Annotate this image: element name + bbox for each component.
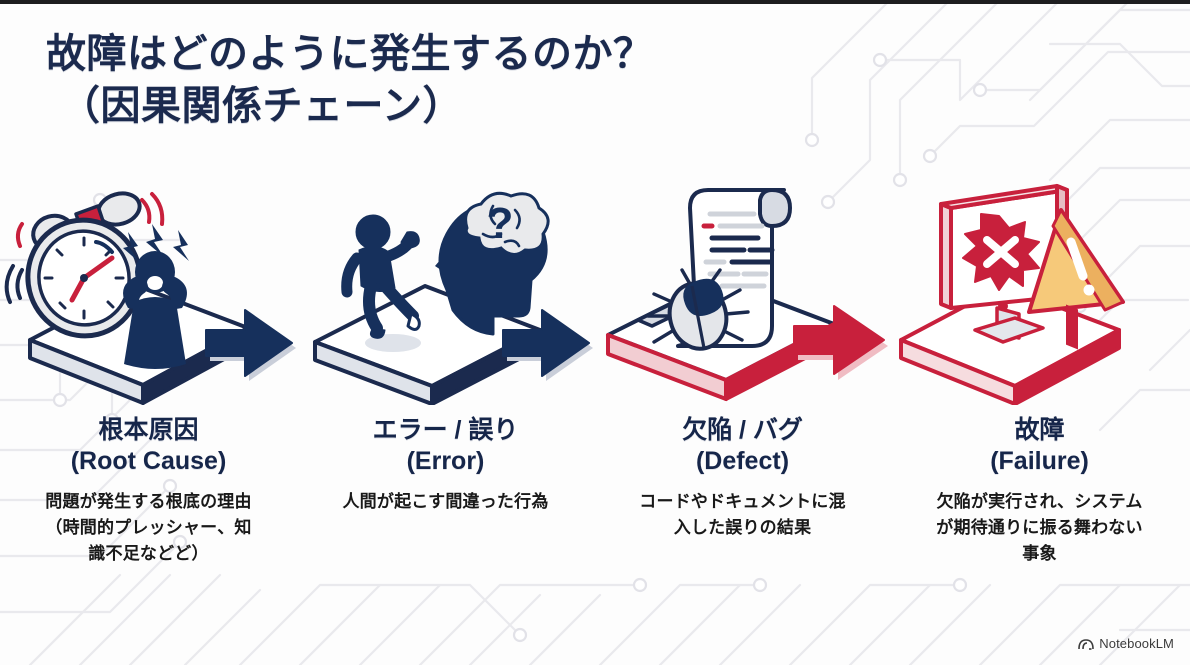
step-description: 欠陥が実行され、システムが期待通りに振る舞わない事象: [931, 489, 1149, 567]
chain-step-defect[interactable]: 欠陥 / バグ (Defect) コードやドキュメントに混入した誤りの結果: [594, 180, 891, 541]
document-scroll-bug-icon: [594, 180, 891, 405]
slide-canvas: 故障はどのように発生するのか？ （因果関係チェーン）: [0, 0, 1190, 665]
title-line-2: （因果関係チェーン）: [46, 80, 654, 132]
chain-step-error[interactable]: ? エラー / 誤り (Error) 人間が起こす間違った行為: [297, 180, 594, 515]
chain-step-failure[interactable]: 故障 (Failure) 欠陥が実行され、システムが期待通りに振る舞わない事象: [891, 180, 1188, 567]
step-labels: 欠陥 / バグ (Defect) コードやドキュメントに混入した誤りの結果: [609, 415, 877, 541]
step-labels: 故障 (Failure) 欠陥が実行され、システムが期待通りに振る舞わない事象: [906, 415, 1174, 567]
step-label-jp: エラー / 誤り: [312, 415, 580, 446]
computer-error-warning-icon: [891, 180, 1188, 405]
notebooklm-logo-icon: [1078, 637, 1094, 651]
title-line-1: 故障はどのように発生するのか？: [46, 28, 654, 80]
step-labels: エラー / 誤り (Error) 人間が起こす間違った行為: [312, 415, 580, 515]
chain-step-root-cause[interactable]: 根本原因 (Root Cause) 問題が発生する根底の理由（時間的プレッシャー…: [0, 180, 297, 567]
step-label-jp: 根本原因: [15, 415, 283, 446]
step-label-en: (Error): [312, 446, 580, 477]
watermark-label: NotebookLM: [1099, 636, 1174, 651]
step-description: 問題が発生する根底の理由（時間的プレッシャー、知識不足などど）: [38, 489, 260, 567]
notebooklm-watermark: NotebookLM: [1078, 636, 1174, 651]
step-label-en: (Failure): [906, 446, 1174, 477]
step-description: 人間が起こす間違った行為: [337, 489, 555, 515]
stumbling-person-question-head-icon: ?: [297, 180, 594, 405]
step-label-en: (Defect): [609, 446, 877, 477]
question-mark-glyph: ?: [487, 199, 514, 248]
top-edge-bar: [0, 0, 1190, 4]
causal-chain-steps: 根本原因 (Root Cause) 問題が発生する根底の理由（時間的プレッシャー…: [0, 180, 1190, 567]
step-labels: 根本原因 (Root Cause) 問題が発生する根底の理由（時間的プレッシャー…: [15, 415, 283, 567]
alarm-clock-stressed-person-icon: [0, 180, 297, 405]
page-title: 故障はどのように発生するのか？ （因果関係チェーン）: [46, 28, 654, 132]
step-description: コードやドキュメントに混入した誤りの結果: [636, 489, 850, 541]
step-label-jp: 欠陥 / バグ: [609, 415, 877, 446]
step-label-jp: 故障: [906, 415, 1174, 446]
step-label-en: (Root Cause): [15, 446, 283, 477]
